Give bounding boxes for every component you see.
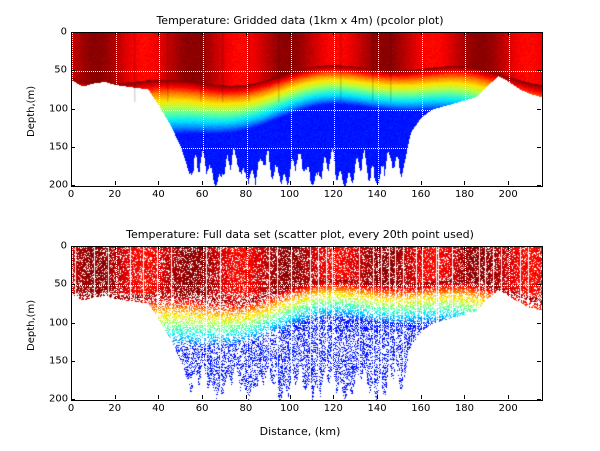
x-tick: [333, 395, 334, 399]
gridline-horizontal: [72, 71, 542, 72]
x-tick-top: [115, 32, 116, 36]
y-tick-right: [537, 147, 541, 148]
x-tick-label: 120: [324, 189, 343, 200]
y-tick: [71, 70, 75, 71]
y-tick: [71, 284, 75, 285]
x-tick-label: 100: [280, 189, 299, 200]
y-tick-right: [537, 399, 541, 400]
y-tick: [71, 361, 75, 362]
x-tick: [421, 395, 422, 399]
x-tick: [377, 181, 378, 185]
x-tick: [508, 395, 509, 399]
x-tick-label: 160: [411, 403, 430, 414]
x-tick: [290, 395, 291, 399]
x-tick-top: [202, 246, 203, 250]
x-tick: [333, 181, 334, 185]
gridline-horizontal: [72, 285, 542, 286]
y-tick-label: 50: [49, 279, 67, 290]
gridline-horizontal: [72, 110, 542, 111]
x-tick-top: [333, 32, 334, 36]
y-tick-right: [537, 246, 541, 247]
x-tick-top: [290, 32, 291, 36]
x-tick-label: 140: [367, 403, 386, 414]
x-tick-label: 140: [367, 189, 386, 200]
y-tick-right: [537, 70, 541, 71]
x-tick-label: 0: [68, 189, 74, 200]
x-tick: [158, 395, 159, 399]
y-tick: [71, 323, 75, 324]
y-tick-label: 150: [49, 141, 67, 152]
x-tick: [508, 181, 509, 185]
y-tick-right: [537, 32, 541, 33]
x-tick-top: [508, 246, 509, 250]
gridline-horizontal: [72, 148, 542, 149]
y-tick: [71, 185, 75, 186]
x-tick-top: [290, 246, 291, 250]
y-tick: [71, 32, 75, 33]
x-tick-label: 20: [108, 189, 121, 200]
y-tick: [71, 109, 75, 110]
y-tick: [71, 399, 75, 400]
x-tick-label: 40: [152, 403, 165, 414]
x-tick: [158, 181, 159, 185]
x-tick-top: [158, 32, 159, 36]
x-tick-top: [333, 246, 334, 250]
x-tick-label: 200: [499, 403, 518, 414]
y-tick-label: 0: [49, 27, 67, 38]
x-tick-top: [464, 32, 465, 36]
x-tick: [290, 181, 291, 185]
x-tick-top: [246, 246, 247, 250]
x-tick: [246, 395, 247, 399]
y-tick-label: 100: [49, 317, 67, 328]
x-tick: [246, 181, 247, 185]
y-tick-label: 150: [49, 355, 67, 366]
y-tick-label: 100: [49, 103, 67, 114]
y-tick-right: [537, 109, 541, 110]
x-tick-top: [377, 246, 378, 250]
x-tick-top: [202, 32, 203, 36]
y-tick-right: [537, 185, 541, 186]
x-tick-label: 60: [196, 403, 209, 414]
y-tick-right: [537, 323, 541, 324]
x-tick-label: 180: [455, 189, 474, 200]
x-tick-label: 160: [411, 189, 430, 200]
x-tick-label: 80: [240, 189, 253, 200]
x-tick: [421, 181, 422, 185]
x-tick: [115, 181, 116, 185]
x-tick-top: [421, 32, 422, 36]
x-tick-top: [377, 32, 378, 36]
x-tick: [202, 395, 203, 399]
y-tick-label: 50: [49, 65, 67, 76]
bottom-chart-y-axis-title: Depth,(m): [26, 299, 37, 350]
x-tick-label: 80: [240, 403, 253, 414]
x-axis-title: Distance, (km): [0, 425, 600, 438]
gridline-horizontal: [72, 362, 542, 363]
y-tick: [71, 246, 75, 247]
x-tick: [202, 181, 203, 185]
top-chart-y-axis-title: Depth,(m): [26, 85, 37, 136]
x-tick-label: 60: [196, 189, 209, 200]
x-tick: [464, 181, 465, 185]
x-tick-label: 120: [324, 403, 343, 414]
x-tick-label: 0: [68, 403, 74, 414]
y-tick-label: 200: [49, 180, 67, 191]
y-tick-right: [537, 284, 541, 285]
x-tick: [464, 395, 465, 399]
y-tick-label: 0: [49, 241, 67, 252]
x-tick-top: [464, 246, 465, 250]
x-tick-label: 100: [280, 403, 299, 414]
gridline-horizontal: [72, 324, 542, 325]
y-tick: [71, 147, 75, 148]
bottom-chart-plot: [71, 246, 543, 401]
x-tick-top: [158, 246, 159, 250]
top-chart-title: Temperature: Gridded data (1km x 4m) (pc…: [0, 14, 600, 27]
x-tick: [115, 395, 116, 399]
x-tick-top: [115, 246, 116, 250]
y-tick-right: [537, 361, 541, 362]
x-tick-top: [246, 32, 247, 36]
y-tick-label: 200: [49, 394, 67, 405]
x-tick: [377, 395, 378, 399]
figure: Temperature: Gridded data (1km x 4m) (pc…: [0, 0, 600, 451]
x-tick-label: 180: [455, 403, 474, 414]
bottom-chart-title: Temperature: Full data set (scatter plot…: [0, 228, 600, 241]
x-tick-label: 40: [152, 189, 165, 200]
x-tick-label: 20: [108, 403, 121, 414]
top-chart-plot: [71, 32, 543, 187]
x-tick-top: [508, 32, 509, 36]
x-tick-top: [421, 246, 422, 250]
x-tick-label: 200: [499, 189, 518, 200]
